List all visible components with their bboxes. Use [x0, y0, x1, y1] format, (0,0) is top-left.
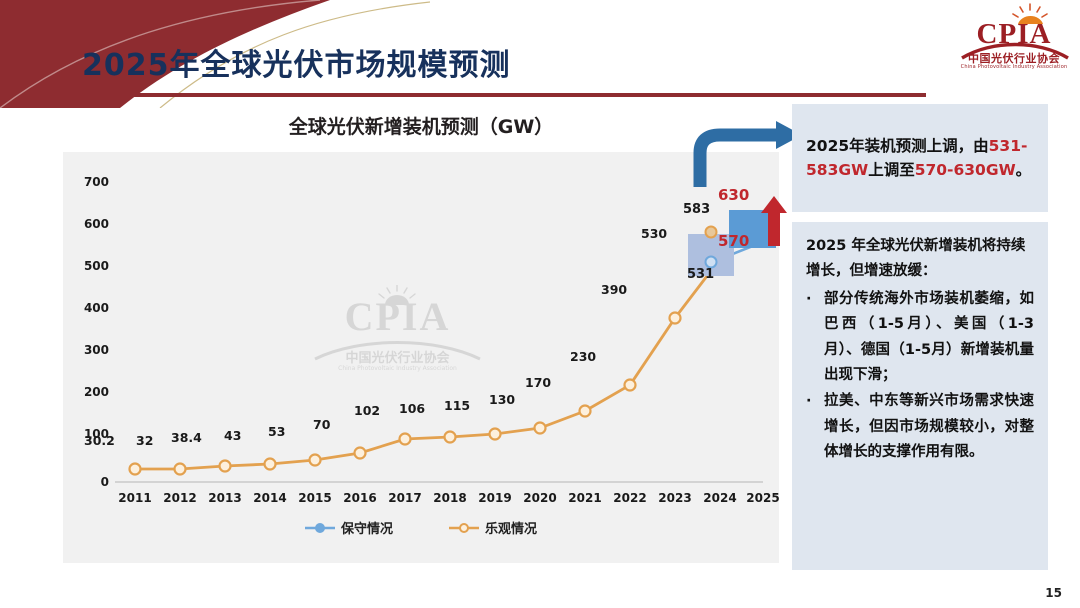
forecast-label-583: 583	[683, 202, 710, 217]
svg-text:2016: 2016	[343, 491, 376, 505]
svg-text:2013: 2013	[208, 491, 241, 505]
legend-label-conservative: 保守情况	[341, 518, 393, 537]
bullet-text: 拉美、中东等新兴市场需求快速增长，但因市场规模较小，对整体增长的支撑作用有限。	[824, 389, 1034, 465]
red-up-arrow-icon	[760, 196, 788, 246]
bullet-marker: ·	[806, 287, 824, 389]
callout-forecast-revision: 2025年装机预测上调，由531-583GW上调至570-630GW。	[792, 104, 1048, 212]
title-underline	[56, 93, 926, 97]
svg-text:0: 0	[101, 475, 109, 489]
logo-mark: CPIA	[956, 18, 1072, 51]
legend-marker-optimistic	[449, 522, 479, 534]
svg-text:2019: 2019	[478, 491, 511, 505]
data-label-2021: 170	[525, 375, 551, 390]
svg-text:500: 500	[84, 259, 109, 273]
svg-text:2023: 2023	[658, 491, 691, 505]
svg-text:2018: 2018	[433, 491, 466, 505]
svg-text:2011: 2011	[118, 491, 151, 505]
legend-marker-conservative	[305, 522, 335, 534]
svg-text:2022: 2022	[613, 491, 646, 505]
data-label-2019: 115	[444, 398, 470, 413]
bullet-marker: ·	[806, 389, 824, 465]
data-label-2018: 106	[399, 401, 425, 416]
data-label-2020: 130	[489, 392, 515, 407]
svg-text:700: 700	[84, 175, 109, 189]
forecast-label-570: 570	[718, 232, 749, 250]
svg-text:2025: 2025	[746, 491, 779, 505]
data-label-2012: 32	[136, 433, 153, 448]
chart-title: 全球光伏新增装机预测（GW）	[63, 112, 779, 139]
logo-en-name: China Photovoltaic Industry Association	[956, 64, 1072, 70]
callout-analysis-bullet-2: · 拉美、中东等新兴市场需求快速增长，但因市场规模较小，对整体增长的支撑作用有限…	[806, 389, 1034, 465]
data-label-2011: 30.2	[84, 433, 115, 448]
data-label-2015: 53	[268, 424, 285, 439]
callout-analysis-bullet-1: · 部分传统海外市场装机萎缩，如巴西（1-5月）、美国（1-3月）、德国（1-5…	[806, 287, 1034, 389]
callout-analysis: 2025 年全球光伏新增装机将持续增长，但增速放缓： · 部分传统海外市场装机萎…	[792, 222, 1048, 570]
svg-text:600: 600	[84, 217, 109, 231]
series-optimistic-markers	[130, 254, 726, 475]
callout-top-part3: 。	[1016, 161, 1032, 179]
callout-top-part2: 上调至	[868, 161, 915, 179]
callout-top-range-new: 570-630GW	[915, 161, 1016, 179]
blue-curved-arrow-icon	[690, 115, 805, 190]
page-number: 15	[1045, 586, 1062, 600]
data-label-2023: 390	[601, 282, 627, 297]
svg-text:2014: 2014	[253, 491, 286, 505]
callout-analysis-heading: 2025 年全球光伏新增装机将持续增长，但增速放缓：	[806, 234, 1034, 285]
sun-icon	[1013, 4, 1047, 17]
page-title: 2025年全球光伏市场规模预测	[82, 40, 511, 84]
svg-text:2012: 2012	[163, 491, 196, 505]
data-label-2022: 230	[570, 349, 596, 364]
chart-legend: 保守情况 乐观情况	[63, 518, 779, 537]
bullet-text: 部分传统海外市场装机萎缩，如巴西（1-5月）、美国（1-3月）、德国（1-5月）…	[824, 287, 1034, 389]
data-label-2024: 530	[641, 226, 667, 241]
callout-top-part1: 2025年装机预测上调，由	[806, 137, 989, 155]
x-axis-labels: 2011 2012 2013 2014 2015 2016 2017 2018 …	[118, 491, 779, 505]
legend-label-optimistic: 乐观情况	[485, 518, 537, 537]
legend-item-optimistic[interactable]: 乐观情况	[449, 518, 537, 537]
data-label-2016: 70	[313, 417, 330, 432]
svg-text:2015: 2015	[298, 491, 331, 505]
svg-text:200: 200	[84, 385, 109, 399]
svg-text:2021: 2021	[568, 491, 601, 505]
cpia-logo: CPIA 中国光伏行业协会 China Photovoltaic Industr…	[956, 2, 1072, 76]
data-label-2013: 38.4	[171, 430, 202, 445]
svg-text:2020: 2020	[523, 491, 556, 505]
data-label-2014: 43	[224, 428, 241, 443]
svg-text:300: 300	[84, 343, 109, 357]
chart-plot: 700 600 500 400 300 200 100 0 2011 2012 …	[63, 152, 779, 563]
forecast-label-531: 531	[687, 267, 714, 282]
svg-text:2024: 2024	[703, 491, 736, 505]
svg-text:400: 400	[84, 301, 109, 315]
legend-item-conservative[interactable]: 保守情况	[305, 518, 393, 537]
data-label-2017: 102	[354, 403, 380, 418]
svg-text:2017: 2017	[388, 491, 421, 505]
